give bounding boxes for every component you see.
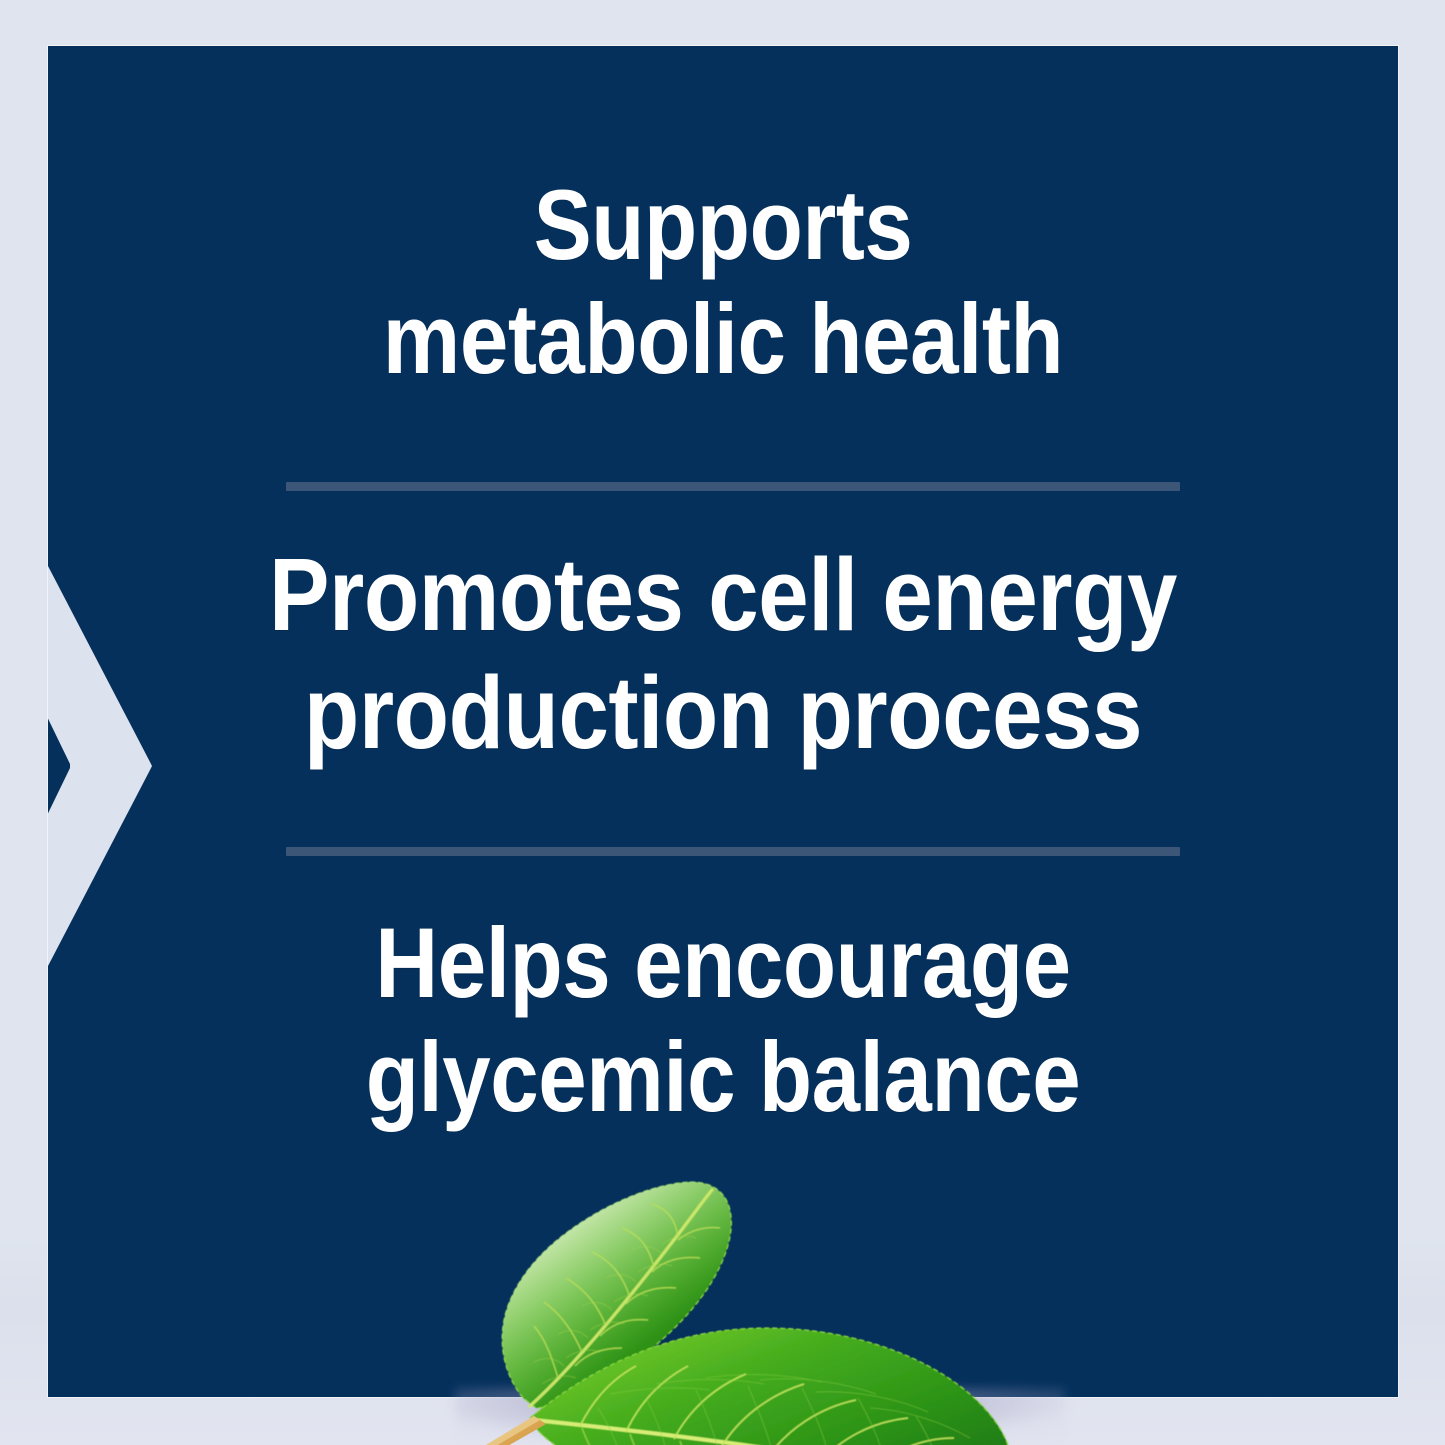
benefit-text-glycemic-balance: Helps encourage glycemic balance [129,906,1317,1134]
benefit-text-cell-energy: Promotes cell energy production process [129,536,1317,773]
benefit-divider-2 [286,847,1180,856]
benefit-divider-1 [286,482,1180,491]
product-benefits-graphic: Supports metabolic health Promotes cell … [0,0,1445,1445]
benefits-content: Supports metabolic health Promotes cell … [48,46,1398,1397]
benefit-text-metabolic-health: Supports metabolic health [129,168,1317,396]
